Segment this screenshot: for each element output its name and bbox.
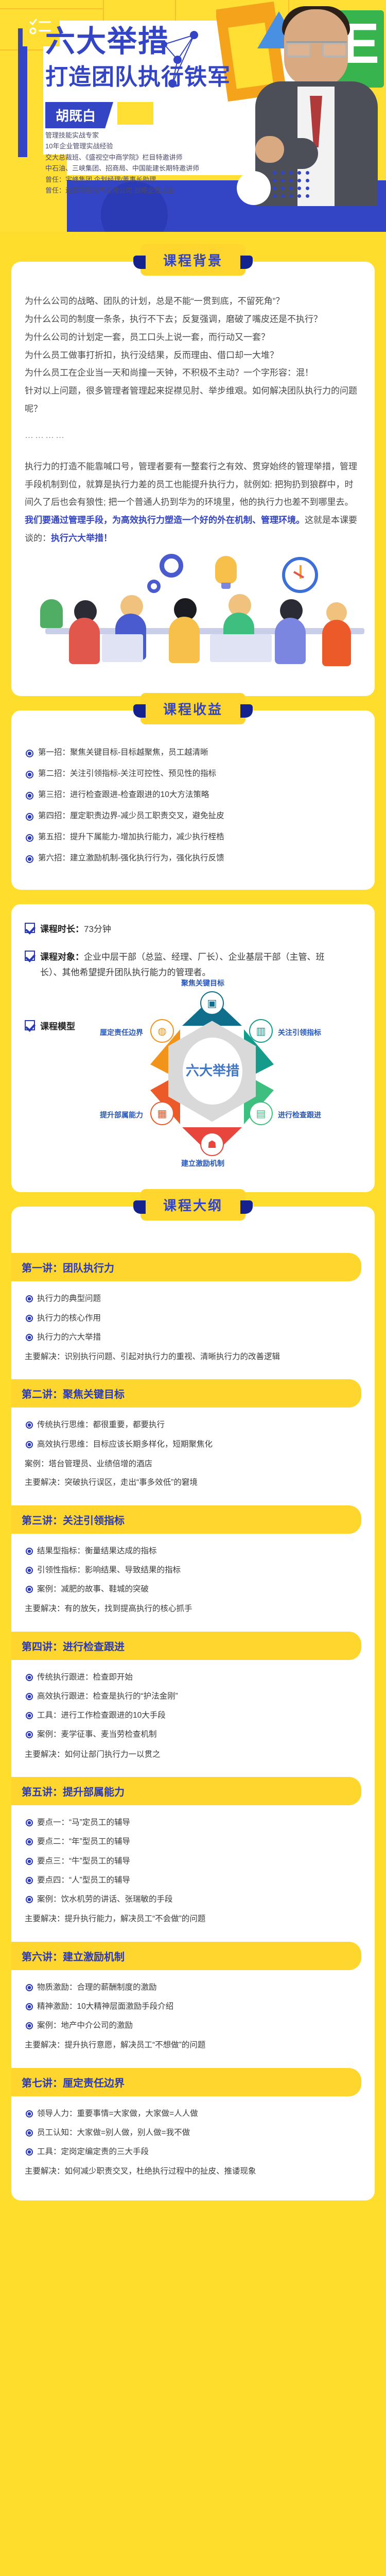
chapter-heading: 第六讲：建立激励机制 [11, 1942, 361, 1970]
robot-icon: ☗ [200, 1132, 224, 1156]
section-title-outline: 课程大纲 [141, 1189, 245, 1221]
section-course-outline: 课程大纲 第一讲：团队执行力 执行力的典型问题 执行力的核心作用 执行力的六大举… [11, 1207, 375, 2200]
background-paragraph-2: 执行力的打造不能靠喊口号，管理者要有一整套行之有效、贯穿始终的管理举措，管理手段… [25, 458, 361, 512]
model-node-label: 进行检查跟进 [278, 1110, 321, 1120]
person-body [69, 618, 100, 664]
model-node-label: 厘定责任边界 [100, 1027, 143, 1038]
model-node-label: 聚焦关键目标 [181, 978, 224, 988]
list-item: 第三招：进行检查跟进-检查跟进的10大方法策略 [25, 789, 361, 801]
person-body [275, 618, 306, 664]
list-item: 案例：饮水机劳的讲话、张瑞敏的手段 [25, 1893, 361, 1905]
model-node-label: 关注引领指标 [278, 1027, 321, 1038]
list-item: 第六招：建立激励机制-强化执行行为，强化执行反馈 [25, 852, 361, 865]
section-title-background: 课程背景 [141, 244, 245, 276]
chapter-note: 主要解决：如何减少职责交叉，杜绝执行过程中的扯皮、推诿现象 [25, 2165, 361, 2178]
gear-icon [160, 554, 183, 578]
chapter-note: 案例：塔台管理员、业绩倍增的酒店 [25, 1458, 361, 1471]
check-icon [25, 1020, 35, 1030]
page-title: 六大举措 [45, 27, 169, 57]
duration-label: 课程时长： [40, 924, 84, 934]
list-item: 第一招：聚焦关键目标-目标越聚焦，员工越清晰 [25, 747, 361, 759]
course-landing-page: 六大举措 打造团队执行铁军 胡既白 管理技能实战专家 10年企业管理实战经验 交… [0, 0, 386, 2230]
list-item: 领导人力：重要事情=大家做，大家做=人人做 [25, 2108, 361, 2120]
background-paragraph: 为什么公司的制度一条条，执行不下去；反复强调，磨破了嘴皮还是不执行？ [25, 311, 361, 329]
model-node-label: 建立激励机制 [181, 1158, 224, 1168]
chapter-bullets: 要点一：“马”定员工的辅导 要点二：“年”型员工的辅导 要点三：“牛”型员工的辅… [25, 1817, 361, 1905]
list-item: 员工认知：大家做=别人做，别人做=我不做 [25, 2127, 361, 2139]
chapter-heading: 第四讲：进行检查跟进 [11, 1632, 361, 1660]
gear-small-icon [147, 580, 161, 593]
background-paragraph: 为什么公司的计划定一套，员工口头上说一套，而行动又一套？ [25, 329, 361, 347]
list-item: 要点三：“牛”型员工的辅导 [25, 1855, 361, 1867]
chapter-heading: 第一讲：团队执行力 [11, 1253, 361, 1281]
chapter-bullets: 传统执行思维：都很重要，都要执行 高效执行思维：目标应该长期多样化，短期聚焦化 [25, 1419, 361, 1450]
credential-line: 曾任：近藤商用电气有限公司 战略企划总监 [45, 185, 199, 196]
chapter-bullets: 结果型指标：衡量结果达成的指标 引领性指标：影响结果、导致结果的指标 案例：减肥… [25, 1545, 361, 1596]
hero-banner: 六大举措 打造团队执行铁军 胡既白 管理技能实战专家 10年企业管理实战经验 交… [0, 0, 386, 232]
teamwork-illustration [25, 551, 361, 680]
list-item: 要点二：“年”型员工的辅导 [25, 1836, 361, 1848]
background-paragraph: 为什么员工在企业当一天和尚撞一天钟，不积极不主动？一个字形容：混！ [25, 364, 361, 382]
list-item: 传统执行思维：都很重要，都要执行 [25, 1419, 361, 1431]
chapter-note: 主要解决：提升执行意愿，解决员工“不想做”的问题 [25, 2039, 361, 2052]
desk-box [210, 634, 272, 662]
lightbulb-icon [215, 556, 237, 584]
list-item: 高效执行跟进：检查是执行的“护法金刚” [25, 1690, 361, 1702]
list-item: 结果型指标：衡量结果达成的指标 [25, 1545, 361, 1557]
audience-label: 课程对象： [40, 952, 84, 962]
credential-line: 10年企业管理实战经验 [45, 141, 199, 151]
credential-line: 曾任：宇峰集团 企划经理/董事长助理 [45, 174, 199, 185]
portrait-glasses [286, 41, 347, 56]
chapter-heading: 第七讲：厘定责任边界 [11, 2068, 361, 2096]
list-item: 工具：定岗定编定责的三大手段 [25, 2146, 361, 2158]
list-item: 引领性指标：影响结果、导致结果的指标 [25, 1564, 361, 1576]
chapter-note: 主要解决：提升执行能力，解决员工“不会做”的问题 [25, 1912, 361, 1926]
portrait-hand [255, 136, 284, 163]
background-paragraph: 为什么公司的战略、团队的计划，总是不能“一贯到底，不留死角”？ [25, 293, 361, 311]
list-item: 案例：地产中介公司的激励 [25, 2020, 361, 2031]
chapter-bullets: 物质激励：合理的薪酬制度的激励 精神激励：10大精神层面激励手段介绍 案例：地产… [25, 1981, 361, 2032]
background-ellipsis: ………… [25, 427, 361, 445]
center-text: 六大举措 [186, 1063, 239, 1079]
highlight-bold-b: 执行六大举措！ [51, 533, 112, 543]
hexagon-center-label: 六大举措 [183, 1038, 242, 1105]
list-item: 精神激励：10大精神层面激励手段介绍 [25, 2001, 361, 2012]
chapter-bullets: 执行力的典型问题 执行力的核心作用 执行力的六大举措 [25, 1293, 361, 1343]
people-icon: ▥ [249, 1019, 273, 1043]
network-nodes-icon [157, 30, 214, 92]
highlight-bold-a: 我们要通过管理手段，为高效执行力塑造一个好的外在机制、管理环境。 [25, 515, 305, 525]
list-item: 执行力的核心作用 [25, 1312, 361, 1324]
list-item: 高效执行思维：目标应该长期多样化，短期聚焦化 [25, 1438, 361, 1450]
notebook-icon: ▦ [150, 1101, 174, 1125]
chapter-bullets: 领导人力：重要事情=大家做，大家做=人人做 员工认知：大家做=别人做，别人做=我… [25, 2108, 361, 2158]
check-icon [25, 951, 35, 961]
course-model-block: 课程模型 六大举措 ▣ ▥ ▤ ☗ [25, 992, 361, 1162]
list-item: 执行力的典型问题 [25, 1293, 361, 1304]
course-duration-row: 课程时长：73分钟 [25, 922, 361, 937]
chapter-note: 主要解决：突破执行误区，走出“事多效低”的窘境 [25, 1476, 361, 1489]
section-course-background: 课程背景 为什么公司的战略、团队的计划，总是不能“一贯到底，不留死角”？ 为什么… [11, 262, 375, 696]
hexagon-model-diagram: 六大举措 ▣ ▥ ▤ ☗ ▦ ◍ 聚焦关键目标 关注引领指标 进行检查跟进 建立… [99, 992, 325, 1162]
background-highlight: 我们要通过管理手段，为高效执行力塑造一个好的外在机制、管理环境。这就是本课要谈的… [25, 512, 361, 548]
chapter-note: 主要解决：识别执行问题、引起对执行力的重视、清晰执行力的改善逻辑 [25, 1350, 361, 1364]
plant-icon [40, 599, 63, 628]
person-body [322, 620, 351, 666]
desk-box [102, 634, 143, 662]
credential-line: 交大总裁班、《盛视空中商学院》栏目特邀讲师 [45, 152, 199, 163]
credential-line: 管理技能实战专家 [45, 130, 199, 141]
instructor-credentials: 管理技能实战专家 10年企业管理实战经验 交大总裁班、《盛视空中商学院》栏目特邀… [45, 130, 199, 196]
list-item: 工具：进行工作检查跟进的10大手段 [25, 1709, 361, 1721]
list-item: 执行力的六大举措 [25, 1331, 361, 1343]
section-course-info: 课程时长：73分钟 课程对象：企业中层干部（总监、经理、厂长）、企业基层干部（主… [11, 904, 375, 1192]
chapter-heading: 第三讲：关注引领指标 [11, 1505, 361, 1534]
list-item: 案例：减肥的故事、鞋城的突破 [25, 1583, 361, 1595]
list-item: 第二招：关注引领指标-关注可控性、预见性的指标 [25, 768, 361, 780]
monitor-icon: ▣ [200, 991, 224, 1015]
instructor-name: 胡既白 [45, 102, 113, 128]
hero-accent-bar [18, 28, 27, 157]
course-audience-row: 课程对象：企业中层干部（总监、经理、厂长）、企业基层干部（主管、班长）、其他希望… [25, 950, 361, 980]
background-paragraph: 为什么员工做事打折扣，执行没结果，反而理由、借口却一大堆？ [25, 347, 361, 365]
list-item: 第五招：提升下属能力-增加执行能力，减少执行桎梏 [25, 831, 361, 843]
list-item: 要点一：“马”定员工的辅导 [25, 1817, 361, 1828]
chapter-bullets: 传统执行跟进：检查即开始 高效执行跟进：检查是执行的“护法金刚” 工具：进行工作… [25, 1671, 361, 1741]
chat-icon: ◍ [150, 1019, 174, 1043]
mobile-icon: ▤ [249, 1101, 273, 1125]
list-item: 传统执行跟进：检查即开始 [25, 1671, 361, 1683]
background-paragraph: 针对以上问题，很多管理者管理起来捉襟见肘、举步维艰。如何解决团队执行力的问题呢？ [25, 382, 361, 418]
list-item: 物质激励：合理的薪酬制度的激励 [25, 1981, 361, 1993]
list-item: 要点四：“人”型员工的辅导 [25, 1874, 361, 1886]
duration-value: 73分钟 [84, 924, 111, 934]
chapter-note: 主要解决：有的放矢，找到提高执行的核心抓手 [25, 1602, 361, 1616]
chapter-heading: 第五讲：提升部属能力 [11, 1777, 361, 1805]
benefits-list: 第一招：聚焦关键目标-目标越聚焦，员工越清晰 第二招：关注引领指标-关注可控性、… [25, 747, 361, 865]
section-title-benefits: 课程收益 [141, 693, 245, 724]
deco-dots [273, 171, 319, 202]
section-course-benefits: 课程收益 第一招：聚焦关键目标-目标越聚焦，员工越清晰 第二招：关注引领指标-关… [11, 710, 375, 890]
model-node-label: 提升部属能力 [100, 1110, 143, 1120]
chapter-note: 主要解决：如何让部门执行力一以贯之 [25, 1748, 361, 1761]
model-label-wrap: 课程模型 [25, 992, 102, 1032]
list-item: 第四招：厘定职责边界-减少员工职责交叉，避免扯皮 [25, 810, 361, 822]
clock-icon [282, 557, 318, 593]
deco-circle-white [237, 171, 271, 205]
check-icon [25, 923, 35, 933]
list-item: 案例：麦学征事、麦当劳检查机制 [25, 1728, 361, 1740]
name-badge-tail [117, 102, 153, 125]
chapter-heading: 第二讲：聚焦关键目标 [11, 1379, 361, 1408]
model-label: 课程模型 [40, 1019, 75, 1032]
credential-line: 中石油、三峡集团、招商局、中国能建长期特邀讲师 [45, 163, 199, 174]
person-body [169, 617, 200, 663]
